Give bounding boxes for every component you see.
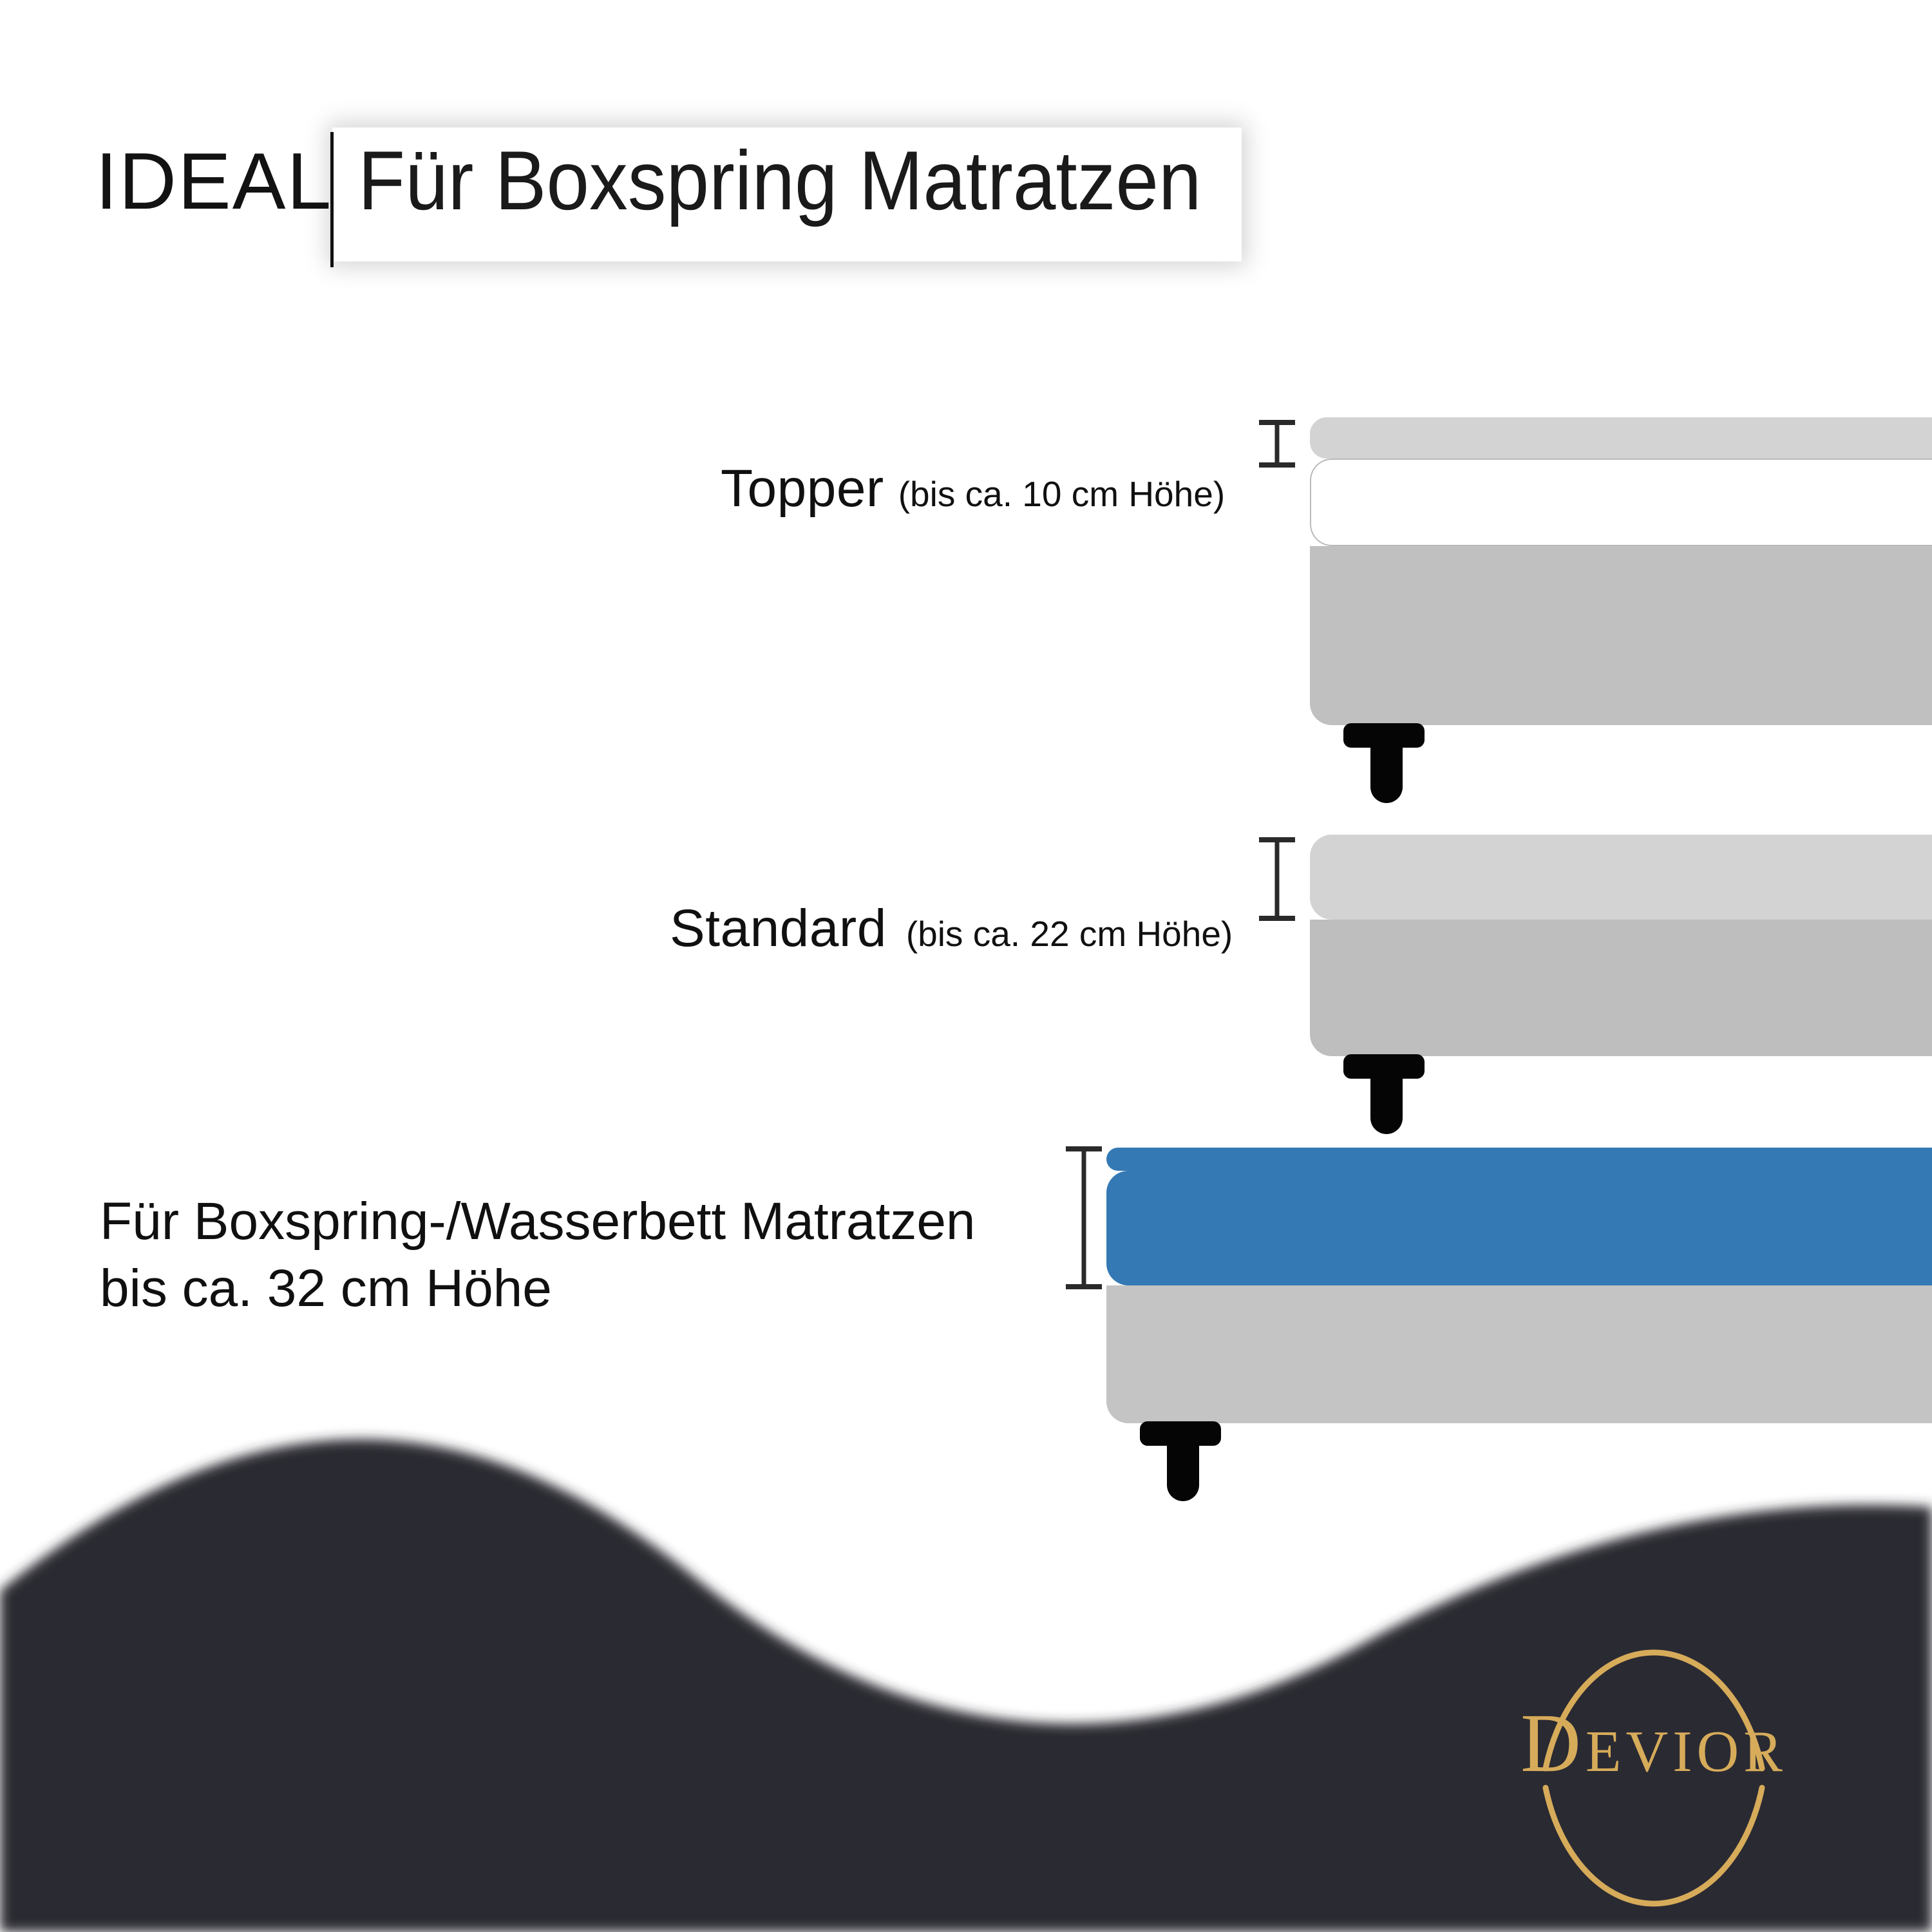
bracket-topper [1259,420,1295,468]
label-standard-main: Standard [670,899,887,958]
logo-devior: Devior [1461,1575,1847,1910]
bracket-cap-bottom [1066,1284,1102,1289]
box-base-standard-row [1310,920,1932,1056]
header-subtitle: Für Boxspring Matratzen [358,137,1201,224]
bracket-cap-bottom [1259,916,1295,921]
label-topper: Topper(bis ca. 10 cm Höhe) [721,459,1225,519]
label-boxspring-waterbed: Für Boxspring-/Wasserbett Matratzen bis … [100,1188,976,1322]
bracket-standard [1259,837,1295,921]
label-standard-note: (bis ca. 22 cm Höhe) [906,914,1233,954]
box-base-topper-row [1310,546,1932,725]
bed-leg-standard-row [1343,1054,1425,1134]
bracket-cap-top [1066,1146,1102,1151]
topper-layer-boxspring-row [1106,1148,1932,1171]
infographic-canvas: IDEAL Für Boxspring Matratzen Topper(bis… [0,0,1932,1932]
label-boxspring-line1: Für Boxspring-/Wasserbett Matratzen [100,1188,976,1255]
label-topper-main: Topper [721,459,884,518]
bracket-stem [1082,1146,1086,1289]
bracket-cap-top [1259,420,1295,425]
bed-leg-topper-row [1343,723,1425,803]
logo-wordmark: Devior [1461,1701,1847,1785]
bracket-cap-top [1259,837,1295,842]
mattress-layer-topper-row [1310,459,1932,546]
label-standard: Standard(bis ca. 22 cm Höhe) [670,898,1233,959]
mattress-layer-standard-row [1310,835,1932,920]
label-topper-note: (bis ca. 10 cm Höhe) [898,474,1225,514]
bracket-boxspring [1066,1146,1102,1289]
topper-layer-topper-row [1310,417,1932,459]
header-divider-rule [330,132,334,267]
bracket-cap-bottom [1259,462,1295,468]
bed-leg-shaft [1370,1074,1403,1134]
bracket-stem [1275,837,1280,921]
mattress-layer-boxspring-row [1106,1171,1932,1285]
bracket-stem [1275,420,1280,468]
label-boxspring-line2: bis ca. 32 cm Höhe [100,1255,976,1322]
header: IDEAL Für Boxspring Matratzen [0,0,1932,296]
brand-word: IDEAL [95,142,332,222]
bed-leg-shaft [1370,743,1403,803]
